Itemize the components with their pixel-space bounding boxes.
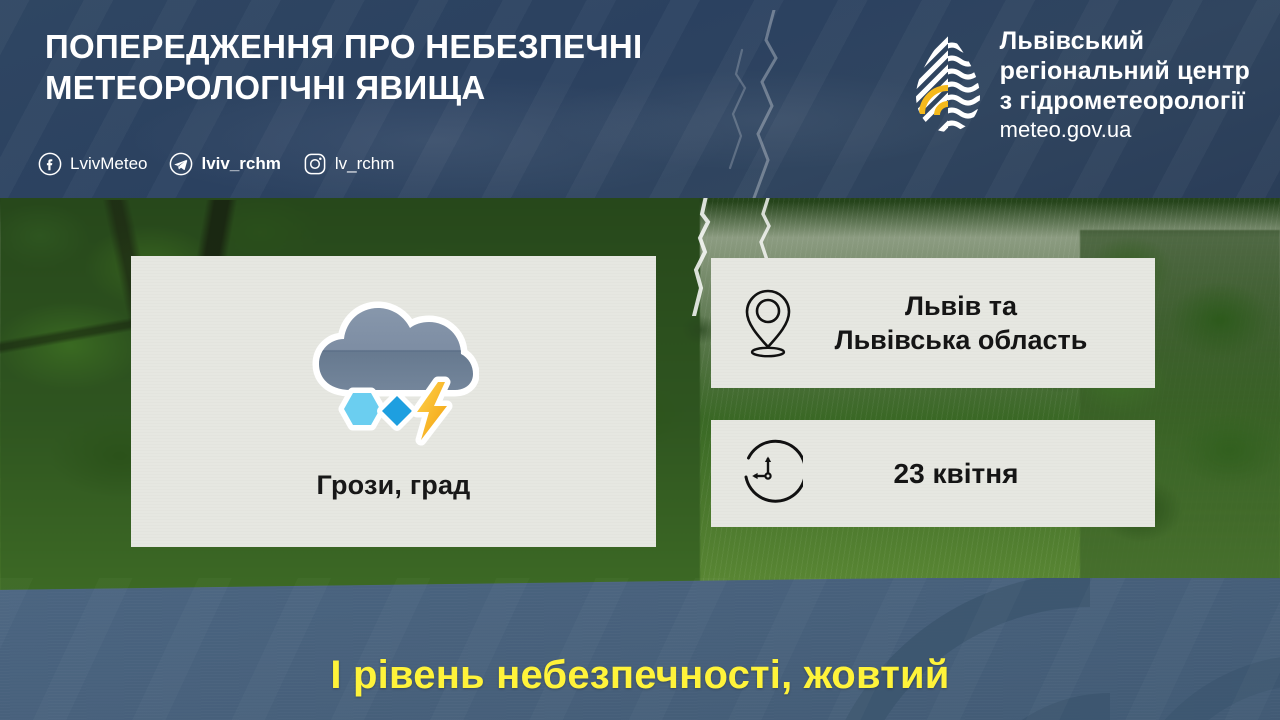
page-title: Попередження про небезпечні метеорологіч… xyxy=(45,26,642,108)
phenomenon-card: Грози, град xyxy=(131,256,656,547)
header-lightning-icon xyxy=(700,10,820,198)
social-links: LvivMeteo lviv_rchm xyxy=(38,152,416,176)
water-drop-leaf-logo-icon xyxy=(910,30,986,136)
facebook-icon xyxy=(38,152,62,176)
region-card: Львів та Львівська область xyxy=(711,258,1155,388)
logo-website-url[interactable]: meteo.gov.ua xyxy=(1000,117,1132,142)
region-text: Львів та Львівська область xyxy=(797,289,1155,357)
map-pin-icon xyxy=(739,287,797,359)
social-link-instagram[interactable]: lv_rchm xyxy=(303,152,395,176)
social-handle: lv_rchm xyxy=(335,154,395,174)
date-card: 23 квітня xyxy=(711,420,1155,527)
social-link-facebook[interactable]: LvivMeteo xyxy=(38,152,147,176)
logo-line-1: Львівський xyxy=(1000,27,1145,55)
clock-icon xyxy=(733,439,803,509)
social-handle: LvivMeteo xyxy=(70,154,147,174)
weather-warning-poster: Попередження про небезпечні метеорологіч… xyxy=(0,0,1280,720)
logo-line-2: регіональний центр xyxy=(1000,57,1250,85)
date-text: 23 квітня xyxy=(803,457,1155,491)
logo-line-3: з гідрометеорологіï xyxy=(1000,87,1245,115)
hail-diamond xyxy=(382,396,412,426)
social-link-telegram[interactable]: lviv_rchm xyxy=(169,152,280,176)
social-handle: lviv_rchm xyxy=(201,154,280,174)
hail-hexagon xyxy=(344,393,380,425)
footer-band: І рівень небезпечності, жовтий xyxy=(0,578,1280,720)
instagram-icon xyxy=(303,152,327,176)
thunderstorm-hail-cloud-icon xyxy=(309,294,479,454)
organization-logo: Львівський регіональний центр з гідромет… xyxy=(910,26,1250,144)
header-band: Попередження про небезпечні метеорологіч… xyxy=(0,0,1280,198)
logo-text: Львівський регіональний центр з гідромет… xyxy=(1000,26,1250,144)
telegram-icon xyxy=(169,152,193,176)
danger-level-text: І рівень небезпечності, жовтий xyxy=(0,578,1280,720)
phenomenon-label: Грози, град xyxy=(316,470,470,501)
